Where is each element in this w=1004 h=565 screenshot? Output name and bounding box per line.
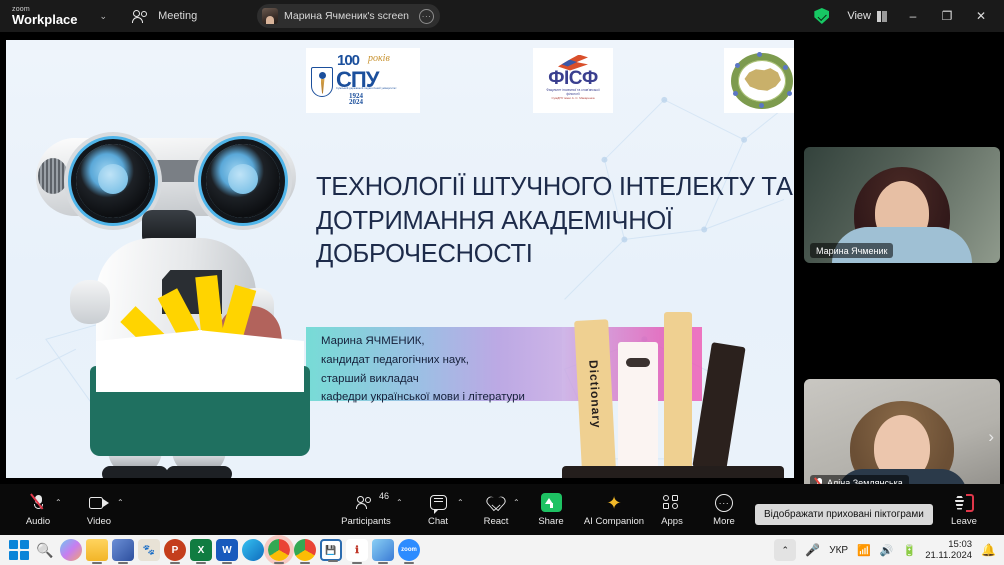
notifications-bell-icon[interactable]: 🔔 — [981, 543, 996, 557]
video-button-label: Video — [87, 516, 111, 527]
microphone-muted-icon — [34, 495, 43, 510]
slide-logo-row: 100 років СПУ Сумський державний педагог… — [6, 48, 794, 110]
window-controls-group: View – ❐ ✕ — [814, 0, 1004, 32]
more-button-label: More — [713, 516, 735, 527]
ai-companion-button-label: AI Companion — [584, 516, 644, 527]
slide-author-block: Марина ЯЧМЕНИК, кандидат педагогічних на… — [321, 332, 591, 407]
chat-button[interactable]: Chat — [418, 486, 458, 533]
battery-icon[interactable]: 🔋 — [903, 544, 917, 557]
share-screen-button[interactable]: Share — [530, 486, 572, 533]
robot-eye-left-icon — [76, 144, 150, 218]
spu-shield-icon — [311, 67, 333, 97]
react-options-chevron-icon[interactable]: ⌃ — [513, 498, 520, 507]
clock[interactable]: 15:03 21.11.2024 — [925, 539, 972, 562]
reader-icon[interactable]: ℹ — [346, 539, 368, 561]
excel-icon[interactable]: X — [190, 539, 212, 561]
security-shield-icon[interactable] — [814, 8, 829, 24]
chrome-icon-h[interactable] — [294, 539, 316, 561]
taskbar-app-icons: 🐾 P X W 💾 ℹ zoom — [8, 539, 420, 561]
presentation-slide: 100 років СПУ Сумський державний педагог… — [6, 40, 794, 478]
leave-button[interactable]: Leave — [940, 486, 988, 533]
author-degree: кандидат педагогічних наук, — [321, 351, 591, 370]
leave-button-label: Leave — [951, 516, 977, 527]
language-indicator[interactable]: УКР — [829, 545, 848, 556]
participants-options-chevron-icon[interactable]: ⌃ — [396, 498, 403, 507]
remote-desktop-icon[interactable] — [112, 539, 134, 561]
author-name: Марина ЯЧМЕНИК, — [321, 332, 591, 351]
robot-illustration — [24, 110, 324, 478]
robot-eye-right-icon — [206, 144, 280, 218]
spu-rokiv-text: років — [368, 53, 390, 64]
video-tile-participant[interactable]: Аліна Землянська › — [804, 379, 1000, 495]
spu-subtitle-text: Сумський державний педагогічний універси… — [336, 87, 406, 90]
people-icon — [133, 10, 151, 23]
wifi-icon[interactable]: 📶 — [857, 544, 871, 557]
heart-icon — [488, 495, 505, 510]
participant-filmstrip: Марина Ячменик Аліна Землянська › — [800, 32, 1004, 484]
apps-button-label: Apps — [661, 516, 683, 527]
video-button[interactable]: Video — [72, 486, 126, 533]
zoom-title-bar: zoom Workplace ⌄ Meeting Марина Ячменик'… — [0, 0, 1004, 32]
copilot-icon[interactable] — [60, 539, 82, 561]
share-screen-icon — [541, 493, 562, 512]
fisf-line2-text: СумДПУ імені А. С. Макаренка — [540, 97, 606, 101]
clock-time: 15:03 — [925, 539, 972, 550]
screen-share-tab-label: Марина Ячменик's screen — [284, 10, 409, 22]
show-hidden-icons-tooltip: Відображати приховані піктограми — [755, 504, 933, 525]
shared-screen-stage[interactable]: 100 років СПУ Сумський державний педагог… — [0, 32, 800, 484]
next-page-chevron-icon[interactable]: › — [988, 427, 994, 447]
meeting-tab-label: Meeting — [158, 10, 197, 22]
chat-icon — [430, 495, 447, 510]
brand-main-text: Workplace — [12, 13, 78, 26]
gimp-icon[interactable]: 🐾 — [138, 539, 160, 561]
view-button-label: View — [847, 10, 871, 22]
system-tray: ⌃ 🎤 УКР 📶 🔊 🔋 15:03 21.11.2024 🔔 — [774, 539, 996, 562]
microphone-tray-icon[interactable]: 🎤 — [805, 543, 820, 557]
author-position: старший викладач — [321, 370, 591, 389]
zoom-icon[interactable]: zoom — [398, 539, 420, 561]
video-tile-presenter[interactable]: Марина Ячменик — [804, 147, 1000, 263]
layout-grid-icon — [877, 11, 888, 22]
apps-button[interactable]: Apps — [652, 486, 692, 533]
share-button-label: Share — [538, 516, 563, 527]
close-button[interactable]: ✕ — [964, 0, 998, 32]
leave-meeting-icon — [954, 494, 974, 512]
apps-icon — [663, 495, 681, 510]
more-options-icon[interactable]: ··· — [419, 9, 434, 24]
open-book-illustration — [90, 330, 310, 460]
avatar — [262, 8, 278, 24]
participants-count: 46 — [379, 491, 389, 501]
clock-date: 21.11.2024 — [925, 550, 972, 561]
fisf-logo: ФІСФ Факультет іноземної та слов'янської… — [533, 48, 613, 113]
author-department: кафедри української мови і літератури — [321, 388, 591, 407]
bookshelf-illustration: Dictionary — [562, 290, 792, 478]
minimize-button[interactable]: – — [896, 0, 930, 32]
volume-icon[interactable]: 🔊 — [880, 544, 894, 557]
participant-name: Марина Ячменик — [816, 246, 887, 256]
zoom-workplace-logo: zoom Workplace — [12, 6, 78, 26]
fisf-abbr-text: ФІСФ — [541, 68, 605, 90]
audio-button[interactable]: Audio — [12, 486, 64, 533]
word-icon[interactable]: W — [216, 539, 238, 561]
screen-share-tab[interactable]: Марина Ячменик's screen ··· — [257, 4, 440, 28]
more-button[interactable]: ··· More — [704, 486, 744, 533]
photos-icon[interactable] — [372, 539, 394, 561]
fisf-line1-text: Факультет іноземної та слов'янської філо… — [540, 88, 606, 96]
meeting-tab[interactable]: Meeting — [133, 10, 197, 23]
participants-button-label: Participants — [341, 516, 391, 527]
save-app-icon[interactable]: 💾 — [320, 539, 342, 561]
react-button[interactable]: React — [474, 486, 518, 533]
react-button-label: React — [484, 516, 509, 527]
participants-icon — [357, 496, 375, 509]
chevron-down-icon[interactable]: ⌄ — [96, 7, 112, 26]
start-button[interactable] — [8, 539, 30, 561]
video-options-chevron-icon[interactable]: ⌃ — [117, 498, 124, 507]
more-icon: ··· — [715, 494, 733, 512]
sparkle-icon: ✦ — [606, 494, 621, 512]
slide-title: ТЕХНОЛОГІЇ ШТУЧНОГО ІНТЕЛЕКТУ ТА ДОТРИМА… — [316, 171, 794, 272]
camera-icon — [89, 497, 109, 509]
chat-options-chevron-icon[interactable]: ⌃ — [457, 498, 464, 507]
show-hidden-icons-chevron[interactable]: ⌃ — [774, 539, 796, 561]
ukraine-wreath-logo — [724, 48, 794, 113]
audio-options-chevron-icon[interactable]: ⌃ — [55, 498, 62, 507]
search-button[interactable] — [34, 539, 56, 561]
participant-name-chip: Марина Ячменик — [810, 243, 893, 258]
ai-companion-button[interactable]: ✦ AI Companion — [578, 486, 650, 533]
windows-taskbar: 🐾 P X W 💾 ℹ zoom ⌃ 🎤 УКР 📶 🔊 🔋 15:03 21.… — [0, 535, 1004, 565]
chat-button-label: Chat — [428, 516, 448, 527]
spu-logo: 100 років СПУ Сумський державний педагог… — [306, 48, 420, 113]
maximize-button[interactable]: ❐ — [930, 0, 964, 32]
audio-button-label: Audio — [26, 516, 50, 527]
edge-icon[interactable] — [242, 539, 264, 561]
participants-button[interactable]: 46 Participants — [336, 486, 396, 533]
spu-years-text: 19242024 — [349, 93, 363, 106]
file-explorer-icon[interactable] — [86, 539, 108, 561]
chrome-icon-a[interactable] — [268, 539, 290, 561]
view-button[interactable]: View — [839, 6, 896, 26]
powerpoint-icon[interactable]: P — [164, 539, 186, 561]
